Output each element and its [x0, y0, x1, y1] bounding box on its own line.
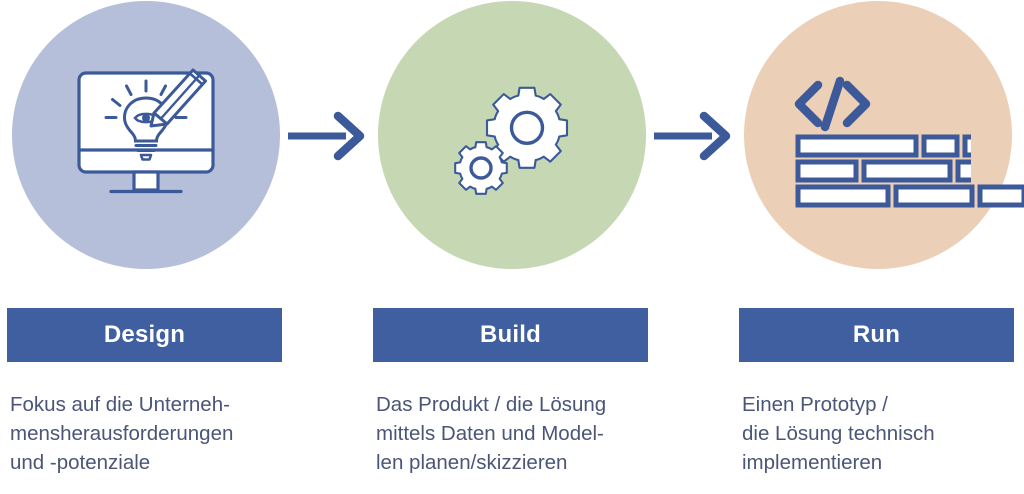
arrow-build-to-run-icon	[652, 110, 736, 162]
step-banner-run: Run	[739, 308, 1014, 362]
step-column-design: Design Fokus auf die Unterneh- mensherau…	[0, 0, 292, 494]
step-column-run: Run Einen Prototyp / die Lösung technisc…	[732, 0, 1024, 494]
arrow-design-to-build-icon	[286, 110, 370, 162]
step-column-build: Build Das Produkt / die Lösung mittels D…	[366, 0, 658, 494]
step-icon-circle-design	[12, 1, 280, 269]
step-icon-circle-build	[378, 1, 646, 269]
process-flow-diagram: Design Fokus auf die Unterneh- mensherau…	[0, 0, 1024, 494]
step-label-design: Design	[104, 323, 185, 347]
code-brackets-icon	[744, 1, 1012, 269]
gears-icon	[378, 1, 646, 269]
step-description-design: Fokus auf die Unterneh- mensherausforder…	[10, 390, 310, 477]
step-banner-build: Build	[373, 308, 648, 362]
step-icon-circle-run	[744, 1, 1012, 269]
step-label-run: Run	[853, 323, 900, 347]
step-label-build: Build	[480, 323, 541, 347]
monitor-lightbulb-pencil-icon	[12, 1, 280, 269]
step-description-run: Einen Prototyp / die Lösung technisch im…	[742, 390, 1024, 477]
step-description-build: Das Produkt / die Lösung mittels Daten u…	[376, 390, 676, 477]
step-banner-design: Design	[7, 308, 282, 362]
